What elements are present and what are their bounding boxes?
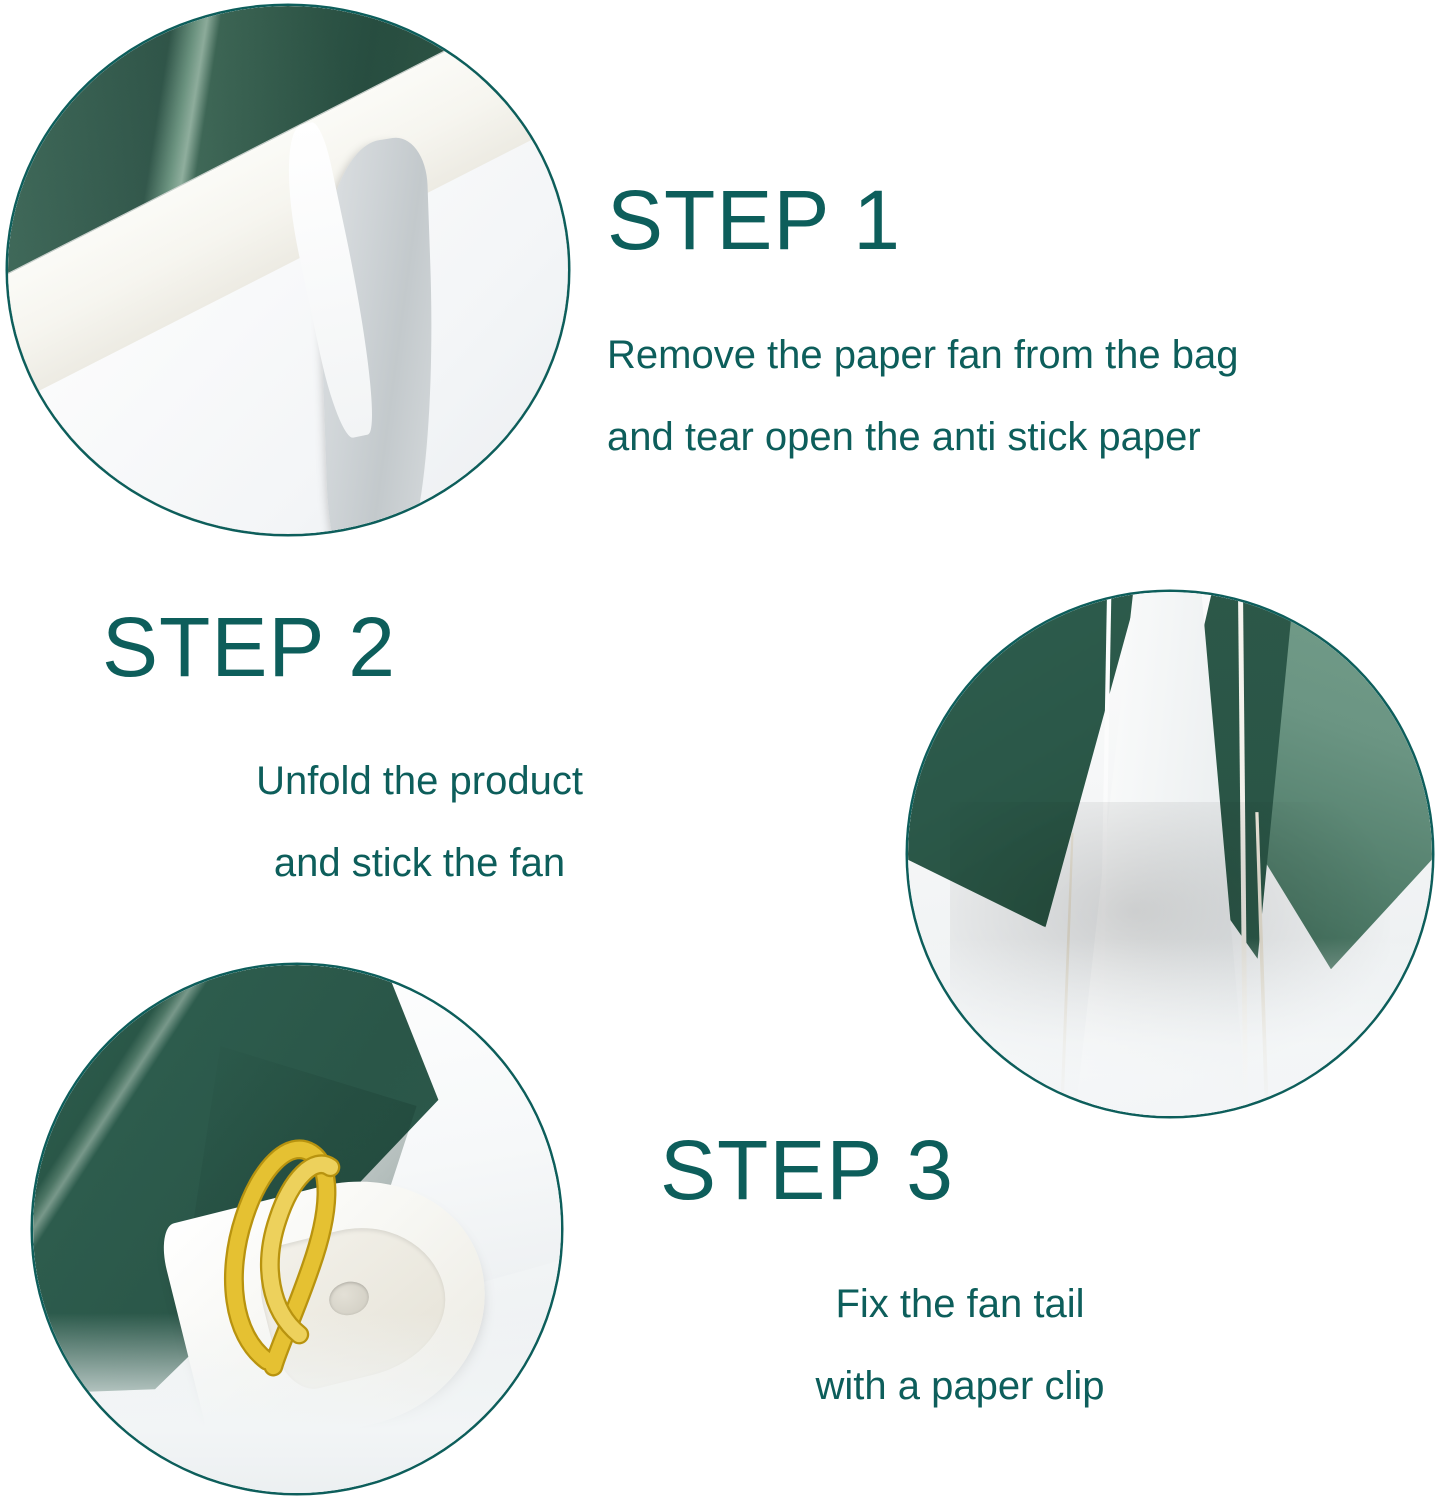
step-3-text-block: STEP 3 Fix the fan tail with a paper cli… <box>660 1128 1360 1406</box>
step-1-text-block: STEP 1 Remove the paper fan from the bag… <box>607 178 1407 457</box>
step-2-heading: STEP 2 <box>102 605 802 689</box>
instruction-infographic: STEP 1 Remove the paper fan from the bag… <box>0 0 1437 1500</box>
step-1-description-line-2: and tear open the anti stick paper <box>607 417 1407 457</box>
step-2-photo <box>908 592 1432 1116</box>
step-2-description-line-2: and stick the fan <box>102 843 737 883</box>
step-3-description-line-1: Fix the fan tail <box>660 1284 1260 1324</box>
step-2-description-line-1: Unfold the product <box>102 761 737 801</box>
paper-clip-icon <box>189 1098 395 1414</box>
step-3-heading: STEP 3 <box>660 1128 1360 1212</box>
step-1-description-line-1: Remove the paper fan from the bag <box>607 335 1407 375</box>
step-2-text-block: STEP 2 Unfold the product and stick the … <box>102 605 802 883</box>
step-1-heading: STEP 1 <box>607 178 1407 262</box>
step-1-photo <box>8 6 568 534</box>
surface-fade <box>908 938 1432 1116</box>
step-3-description-line-2: with a paper clip <box>660 1366 1260 1406</box>
step-3-photo <box>33 965 561 1493</box>
